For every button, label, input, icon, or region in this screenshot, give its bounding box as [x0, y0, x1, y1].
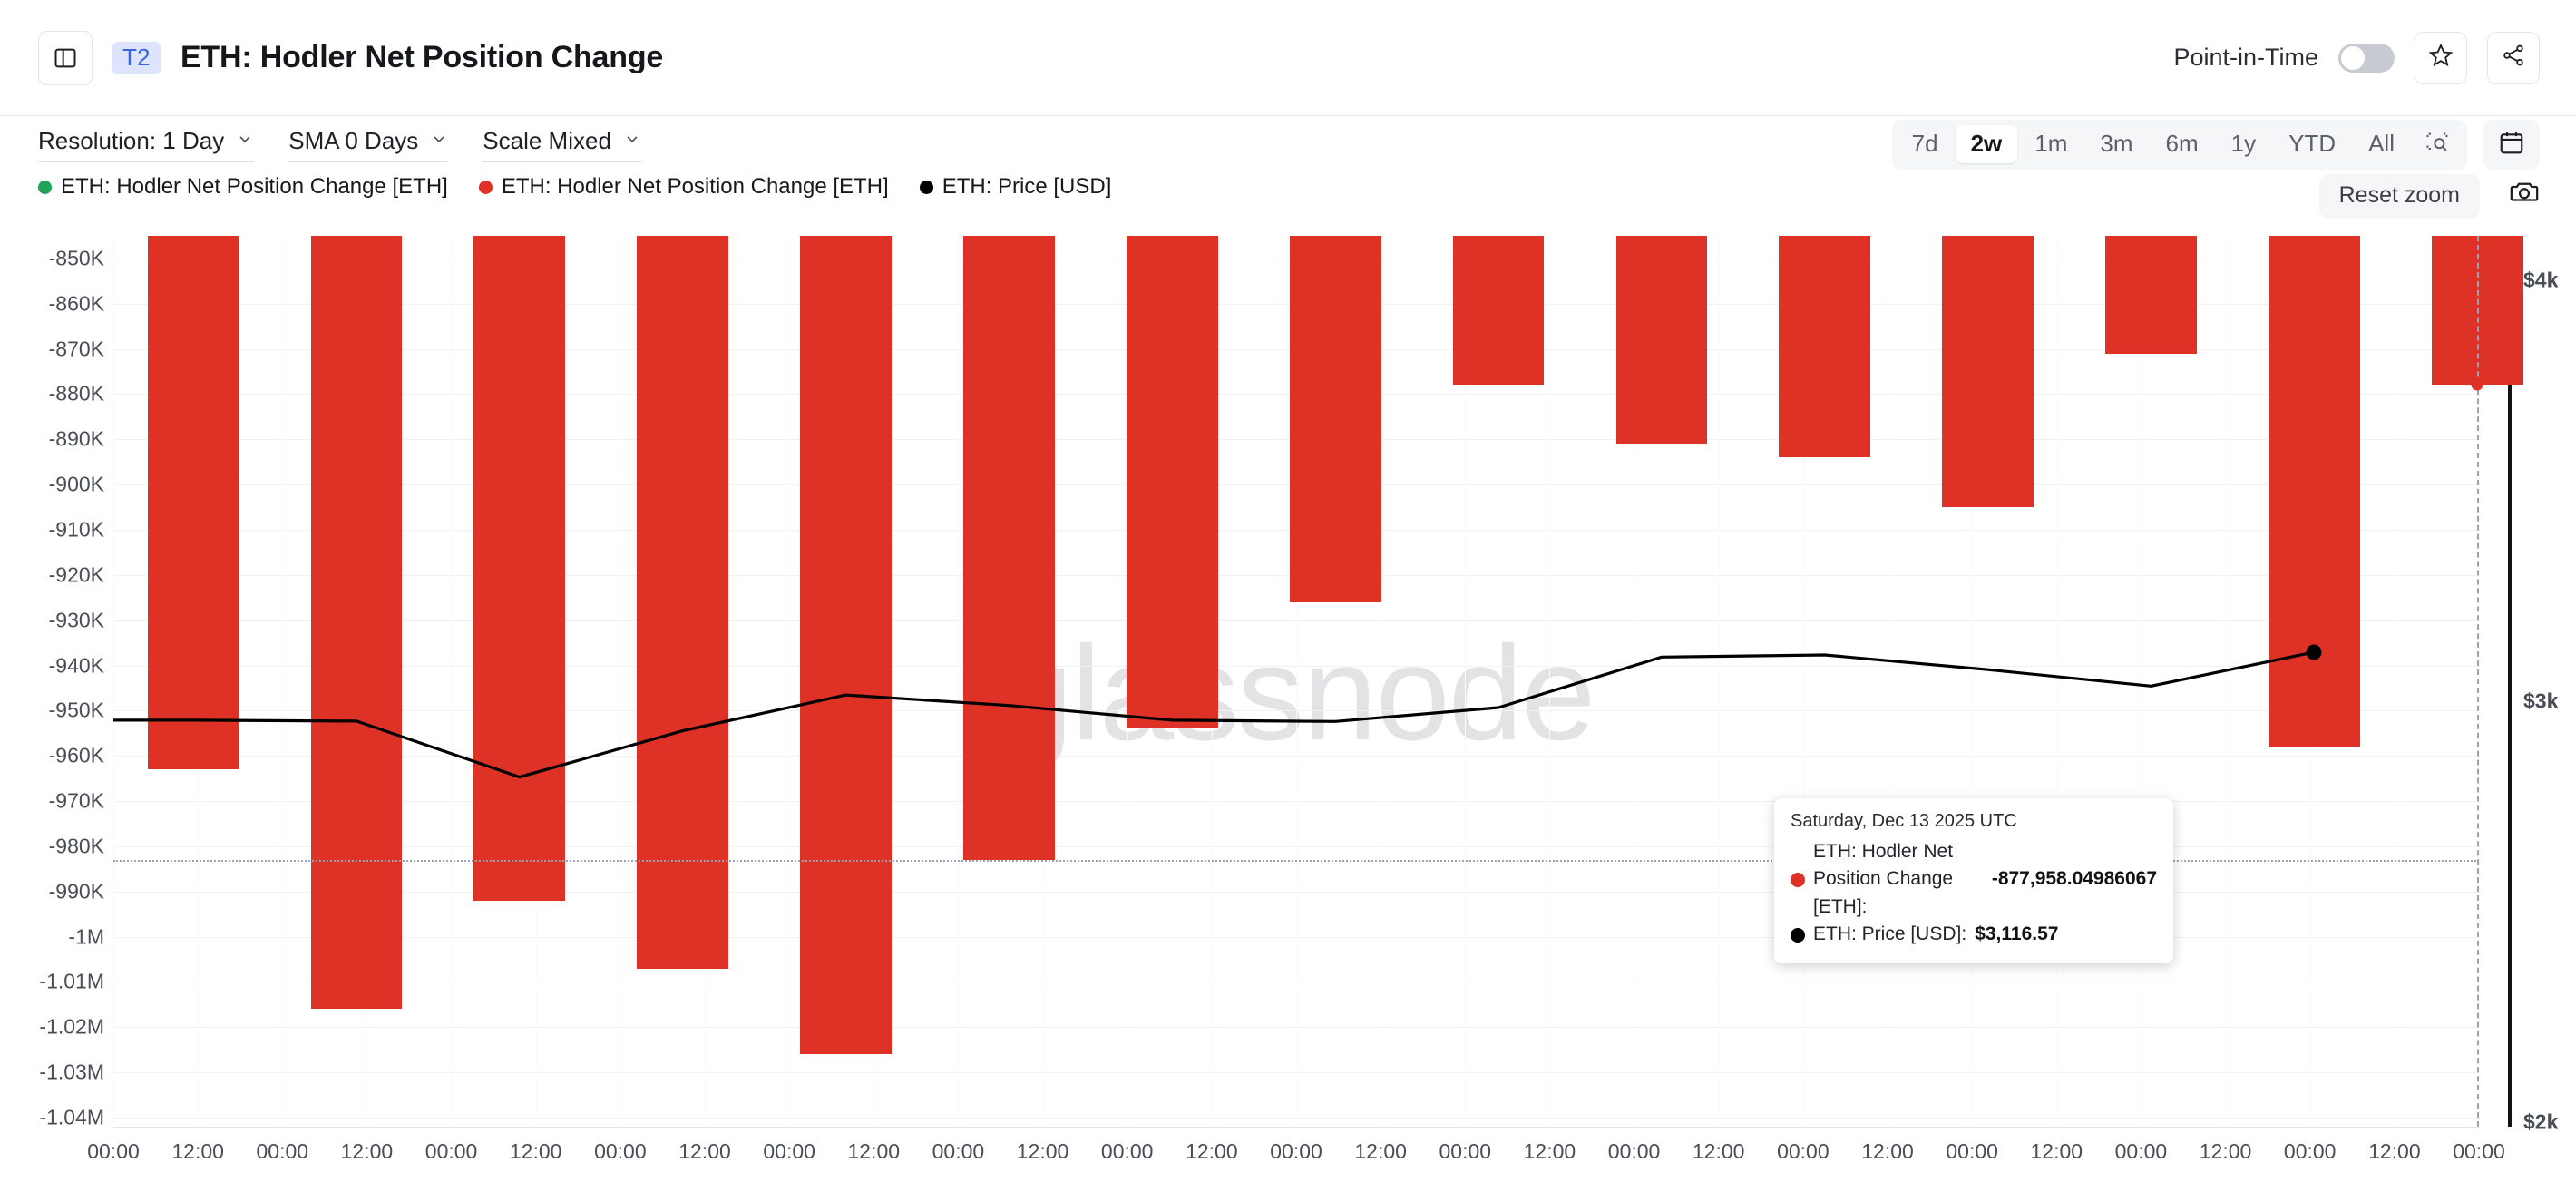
chart-tooltip: Saturday, Dec 13 2025 UTC ETH: Hodler Ne… [1774, 798, 2173, 963]
tier-badge: T2 [112, 42, 161, 74]
x-axis-tick-label: 00:00 [932, 1139, 985, 1164]
y-axis-tick-label: -1.01M [39, 970, 104, 994]
legend-color-dot [920, 181, 933, 194]
x-axis-tick-label: 00:00 [1946, 1139, 1998, 1164]
x-axis-tick-label: 00:00 [87, 1139, 140, 1164]
toolbar-right: 7d2w1m3m6m1yYTDAll [1892, 120, 2576, 170]
price-hover-marker [2307, 644, 2322, 660]
x-axis-tick-label: 00:00 [1101, 1139, 1154, 1164]
range-button-1m[interactable]: 1m [2019, 125, 2083, 163]
chart-toolbar: Resolution: 1 Day SMA 0 Days Scale Mixed [0, 116, 2576, 172]
x-axis-tick-label: 00:00 [2453, 1139, 2505, 1164]
x-axis-tick-label: 00:00 [2115, 1139, 2168, 1164]
y-axis-tick-label: -940K [49, 653, 104, 678]
bar-hover-marker [2472, 379, 2483, 391]
legend-item-1[interactable]: ETH: Hodler Net Position Change [ETH] [479, 174, 889, 200]
range-button-6m[interactable]: 6m [2151, 125, 2214, 163]
y-axis-tick-label: -960K [49, 744, 104, 768]
tooltip-series-name: ETH: Price [USD]: [1813, 921, 1966, 948]
header-right: Point-in-Time [2173, 32, 2576, 84]
y-axis-tick-label: -980K [49, 834, 104, 858]
tooltip-series-name: ETH: Hodler Net Position Change [ETH]: [1813, 838, 1984, 921]
chevron-down-icon [236, 130, 254, 152]
x-axis-tick-label: 12:00 [2200, 1139, 2252, 1164]
y-axis-tick-label: -920K [49, 562, 104, 587]
x-axis-tick-label: 00:00 [2284, 1139, 2337, 1164]
x-axis-tick-label: 00:00 [425, 1139, 478, 1164]
x-axis-tick-label: 12:00 [1524, 1139, 1576, 1164]
chart-legend: ETH: Hodler Net Position Change [ETH]ETH… [38, 174, 1111, 200]
x-axis-tick-label: 00:00 [1608, 1139, 1661, 1164]
y-axis-tick-label: -850K [49, 246, 104, 270]
y-axis-tick-label: -1.03M [39, 1060, 104, 1085]
y-axis-tick-label: -870K [49, 337, 104, 361]
x-axis-tick-label: 00:00 [594, 1139, 647, 1164]
scale-dropdown[interactable]: Scale Mixed [483, 127, 641, 162]
y-axis-tick-label: -890K [49, 427, 104, 452]
y-axis-tick-label: -930K [49, 608, 104, 632]
tooltip-series-value: $3,116.57 [1975, 921, 2058, 948]
legend-item-0[interactable]: ETH: Hodler Net Position Change [ETH] [38, 174, 448, 200]
price-line-series [113, 236, 2479, 1127]
point-in-time-toggle[interactable] [2338, 44, 2395, 73]
tooltip-rows: ETH: Hodler Net Position Change [ETH]:-8… [1791, 838, 2157, 949]
x-axis-tick-label: 00:00 [1270, 1139, 1322, 1164]
x-axis-tick-label: 00:00 [257, 1139, 309, 1164]
chart-area[interactable]: glassnode -850K-860K-870K-880K-890K-900K… [0, 214, 2576, 1192]
favorite-button[interactable] [2415, 32, 2467, 84]
zoom-select-button[interactable] [2412, 124, 2463, 165]
tooltip-series-value: -877,958.04986067 [1992, 865, 2157, 893]
page-header: T2 ETH: Hodler Net Position Change Point… [0, 0, 2576, 116]
x-axis-tick-label: 12:00 [341, 1139, 394, 1164]
calendar-icon [2498, 129, 2525, 161]
share-icon [2501, 43, 2526, 73]
tooltip-color-dot [1791, 873, 1805, 887]
sma-dropdown[interactable]: SMA 0 Days [288, 127, 448, 162]
chevron-down-icon [623, 130, 641, 152]
chart-page: T2 ETH: Hodler Net Position Change Point… [0, 0, 2576, 1192]
x-axis-tick-label: 12:00 [2368, 1139, 2421, 1164]
x-axis-tick-label: 12:00 [171, 1139, 224, 1164]
sma-dropdown-label: SMA 0 Days [288, 127, 418, 155]
y-axis-tick-label: -950K [49, 699, 104, 723]
screenshot-button[interactable] [2509, 176, 2540, 211]
legend-color-dot [38, 181, 52, 194]
calendar-button[interactable] [2483, 120, 2540, 170]
page-title: ETH: Hodler Net Position Change [181, 40, 663, 75]
range-button-3m[interactable]: 3m [2084, 125, 2148, 163]
y-axis-tick-label: -1M [68, 924, 104, 949]
range-button-all[interactable]: All [2353, 125, 2410, 163]
share-button[interactable] [2487, 32, 2540, 84]
crosshair-line [2477, 236, 2479, 1127]
x-axis-tick-label: 12:00 [1354, 1139, 1407, 1164]
x-axis-tick-label: 00:00 [763, 1139, 815, 1164]
y2-axis-tick-label: $2k [2523, 1110, 2558, 1135]
y-axis-tick-label: -1.02M [39, 1015, 104, 1040]
resolution-dropdown[interactable]: Resolution: 1 Day [38, 127, 254, 162]
camera-icon [2509, 195, 2540, 210]
panel-left-icon [53, 45, 78, 71]
y2-axis-tick-label: $4k [2523, 268, 2558, 292]
x-axis-tick-label: 12:00 [848, 1139, 901, 1164]
chevron-down-icon [430, 130, 448, 152]
x-axis-tick-label: 12:00 [510, 1139, 562, 1164]
x-axis-tick-label: 12:00 [678, 1139, 731, 1164]
x-axis-tick-label: 00:00 [1439, 1139, 1492, 1164]
plot-canvas[interactable]: glassnode [113, 236, 2479, 1127]
legend-color-dot [479, 181, 493, 194]
toggle-knob [2341, 46, 2365, 70]
legend-item-2[interactable]: ETH: Price [USD] [920, 174, 1112, 200]
tooltip-row: ETH: Hodler Net Position Change [ETH]:-8… [1791, 838, 2157, 921]
range-button-2w[interactable]: 2w [1956, 125, 2018, 163]
range-button-7d[interactable]: 7d [1897, 125, 1954, 163]
range-button-1y[interactable]: 1y [2216, 125, 2271, 163]
x-axis-tick-label: 12:00 [1861, 1139, 1914, 1164]
x-axis-tick-label: 12:00 [1186, 1139, 1238, 1164]
range-button-ytd[interactable]: YTD [2273, 125, 2351, 163]
y-axis-tick-label: -990K [49, 879, 104, 904]
resolution-dropdown-label: Resolution: 1 Day [38, 127, 224, 155]
scale-dropdown-label: Scale Mixed [483, 127, 611, 155]
x-axis-tick-label: 12:00 [1017, 1139, 1069, 1164]
legend-label: ETH: Price [USD] [942, 174, 1112, 200]
zoom-select-icon [2425, 130, 2450, 160]
y2-axis-tick-label: $3k [2523, 689, 2558, 714]
x-axis-tick-label: 12:00 [1693, 1139, 1745, 1164]
header-left: T2 ETH: Hodler Net Position Change [0, 31, 663, 85]
reset-zoom-button[interactable]: Reset zoom [2319, 174, 2480, 219]
y-axis-tick-label: -970K [49, 789, 104, 814]
y-axis-tick-label: -1.04M [39, 1106, 104, 1130]
time-range-group: 7d2w1m3m6m1yYTDAll [1892, 120, 2467, 170]
tooltip-row: ETH: Price [USD]:$3,116.57 [1791, 921, 2157, 948]
y-axis-tick-label: -880K [49, 382, 104, 406]
legend-label: ETH: Hodler Net Position Change [ETH] [61, 174, 448, 200]
y-axis-tick-label: -910K [49, 518, 104, 542]
y-axis-tick-label: -860K [49, 291, 104, 316]
sidebar-toggle-button[interactable] [38, 31, 93, 85]
x-axis-tick-label: 12:00 [2031, 1139, 2083, 1164]
x-axis-line [113, 1127, 2479, 1128]
tooltip-color-dot [1791, 928, 1805, 943]
legend-label: ETH: Hodler Net Position Change [ETH] [502, 174, 889, 200]
point-in-time-label: Point-in-Time [2173, 44, 2318, 72]
star-icon [2428, 43, 2454, 73]
x-axis-tick-label: 00:00 [1777, 1139, 1830, 1164]
y-axis-tick-label: -900K [49, 473, 104, 497]
tooltip-date: Saturday, Dec 13 2025 UTC [1791, 811, 2157, 832]
toolbar-dropdowns: Resolution: 1 Day SMA 0 Days Scale Mixed [0, 127, 641, 162]
